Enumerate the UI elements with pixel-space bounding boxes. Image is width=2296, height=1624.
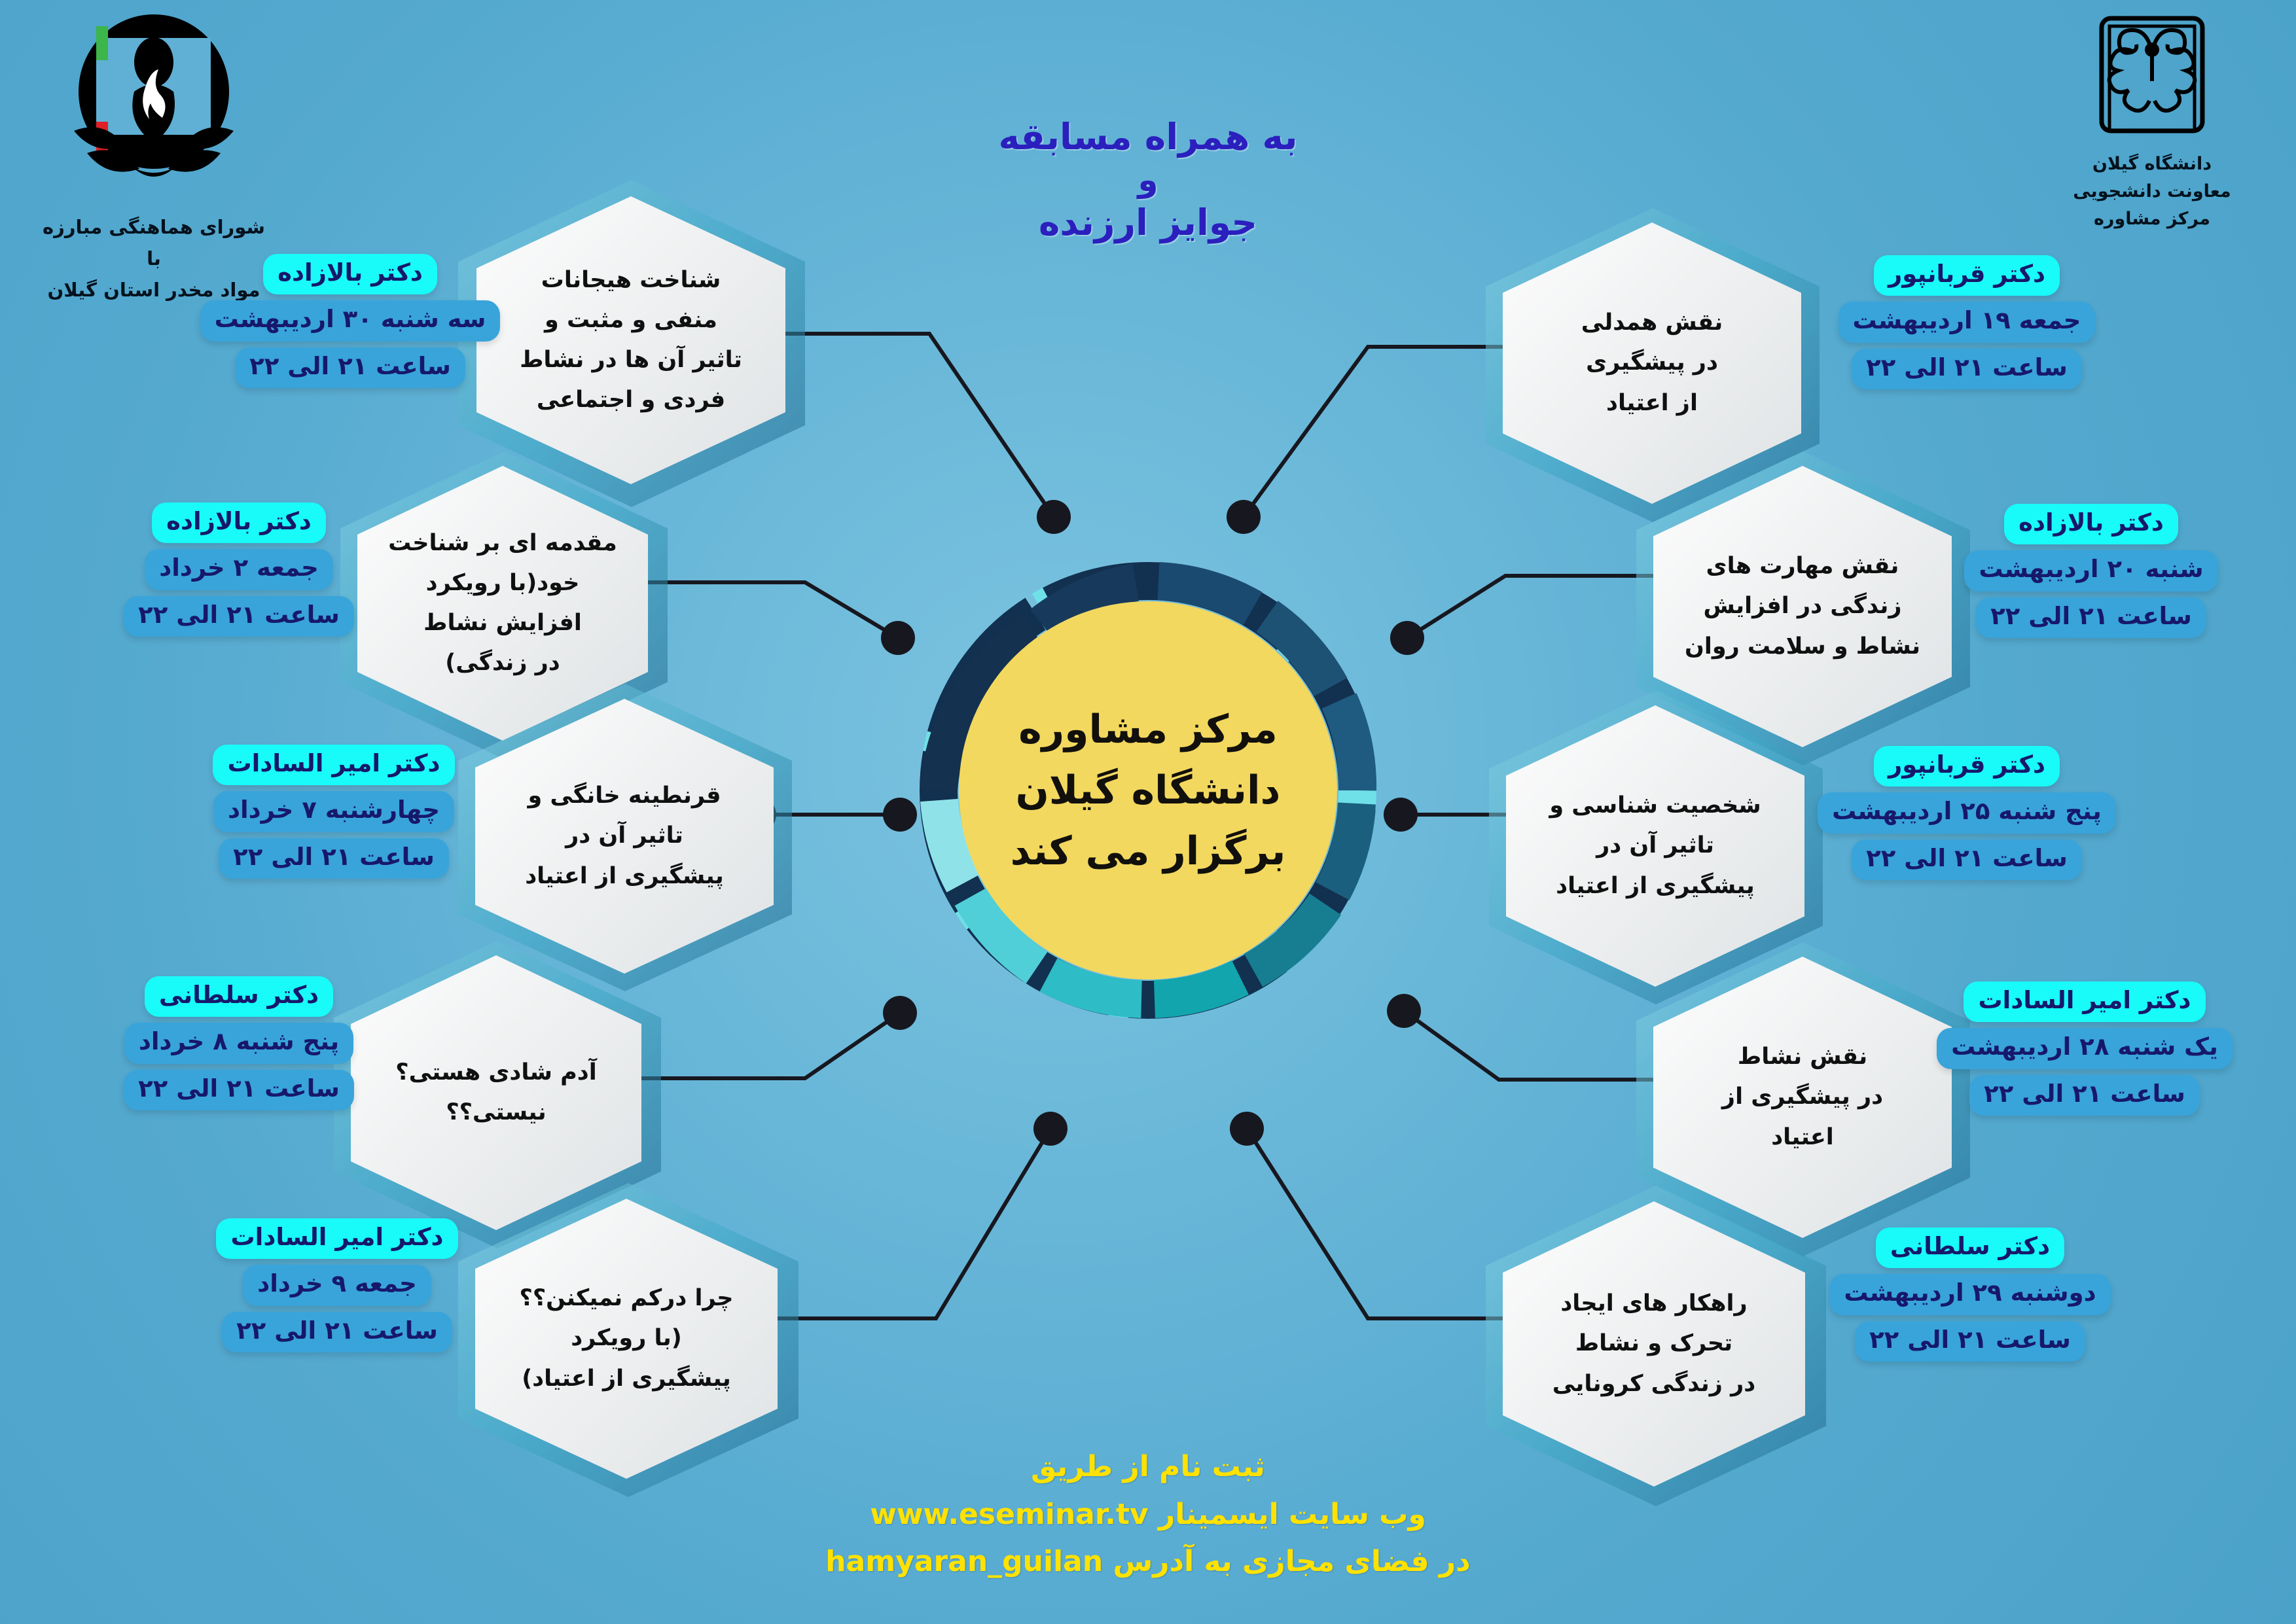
topic-text-right-4: نقش نشاطدر پیشگیری ازاعتیاد <box>1705 1037 1900 1157</box>
social-handle[interactable]: hamyaran_guilan <box>825 1538 1103 1586</box>
date-badge-left-2: جمعه ۲ خرداد <box>145 549 333 590</box>
topic-text-left-5: چرا درکم نمیکنن؟؟(با رویکردپیشگیری از اع… <box>503 1279 751 1399</box>
topic-text-left-3: قرنطینه خانگی وتاثیر آن درپیشگیری از اعت… <box>508 776 741 896</box>
session-labels-left-4: دکتر سلطانی پنج شنبه ۸ خرداد ساعت ۲۱ الی… <box>98 976 380 1110</box>
time-badge-left-2: ساعت ۲۱ الی ۲۲ <box>124 596 354 637</box>
time-badge-left-5: ساعت ۲۱ الی ۲۲ <box>222 1312 452 1352</box>
date-badge-right-4: یک شنبه ۲۸ اردیبهشت <box>1937 1028 2233 1068</box>
footer-line-2-label: وب سایت ایسمینار <box>1158 1498 1426 1531</box>
guilan-university-emblem-icon <box>2083 13 2221 144</box>
topic-text-right-2: نقش مهارت هایزندگی در افزایشنشاط و سلامت… <box>1668 546 1937 667</box>
speaker-badge-left-5: دکتر امیر السادات <box>216 1218 457 1259</box>
session-labels-right-2: دکتر بالازاده شنبه ۲۰ اردیبهشت ساعت ۲۱ ا… <box>1937 504 2245 638</box>
speaker-badge-right-5: دکتر سلطانی <box>1876 1227 2064 1268</box>
promo-line-1: به همراه مسابقه <box>0 115 2296 160</box>
speaker-badge-left-1: دکتر بالازاده <box>263 254 437 294</box>
speaker-badge-right-4: دکتر امیر السادات <box>1964 981 2205 1022</box>
session-labels-left-5: دکتر امیر السادات جمعه ۹ خرداد ساعت ۲۱ ا… <box>190 1218 484 1352</box>
topic-text-right-1: نقش همدلیدر پیشگیریاز اعتیاد <box>1564 303 1740 423</box>
right-logo-caption-line2: معاونت دانشجویی <box>2034 178 2270 205</box>
time-badge-right-2: ساعت ۲۱ الی ۲۲ <box>1976 597 2206 638</box>
date-badge-left-1: سه شنبه ۳۰ اردیبهشت <box>200 300 501 341</box>
registration-footer: ثبت نام از طریق وب سایت ایسمینار www.ese… <box>0 1443 2296 1586</box>
topic-text-right-3: شخصیت شناسی وتاثیر آن درپیشگیری از اعتیا… <box>1532 786 1778 906</box>
time-badge-left-3: ساعت ۲۱ الی ۲۲ <box>219 838 449 879</box>
session-labels-left-1: دکتر بالازاده سه شنبه ۳۰ اردیبهشت ساعت ۲… <box>196 254 504 388</box>
date-badge-left-4: پنج شنبه ۸ خرداد <box>124 1023 353 1063</box>
topic-text-right-5: راهکار های ایجادتحرک و نشاطدر زندگی کرون… <box>1535 1284 1772 1404</box>
time-badge-left-1: ساعت ۲۱ الی ۲۲ <box>235 347 465 388</box>
topic-text-left-4: آدم شادی هستی؟نیستی؟؟ <box>378 1053 613 1133</box>
time-badge-right-3: ساعت ۲۱ الی ۲۲ <box>1852 839 2082 880</box>
right-logo-caption-line1: دانشگاه گیلان <box>2034 150 2270 178</box>
speaker-badge-right-3: دکتر قربانپور <box>1874 746 2060 786</box>
speaker-badge-left-3: دکتر امیر السادات <box>213 745 454 785</box>
footer-line-2: وب سایت ایسمینار www.eseminar.tv <box>0 1491 2296 1539</box>
time-badge-right-5: ساعت ۲۱ الی ۲۲ <box>1855 1321 2085 1362</box>
speaker-badge-right-2: دکتر بالازاده <box>2004 504 2178 544</box>
session-labels-right-3: دکتر قربانپور پنج شنبه ۲۵ اردیبهشت ساعت … <box>1806 746 2127 880</box>
session-labels-right-5: دکتر سلطانی دوشنبه ۲۹ اردیبهشت ساعت ۲۱ ا… <box>1806 1227 2134 1362</box>
center-line-3: برگزار می کند <box>1011 821 1286 882</box>
footer-line-1: ثبت نام از طریق <box>0 1443 2296 1491</box>
time-badge-right-4: ساعت ۲۱ الی ۲۲ <box>1969 1075 2200 1116</box>
session-labels-left-2: دکتر بالازاده جمعه ۲ خرداد ساعت ۲۱ الی ۲… <box>101 503 376 637</box>
date-badge-right-2: شنبه ۲۰ اردیبهشت <box>1964 550 2217 591</box>
footer-line-3-label: در فضای مجازی به آدرس <box>1113 1545 1471 1578</box>
date-badge-right-5: دوشنبه ۲۹ اردیبهشت <box>1829 1274 2110 1315</box>
date-badge-right-3: پنج شنبه ۲۵ اردیبهشت <box>1818 792 2116 833</box>
center-disc: مرکز مشاوره دانشگاه گیلان برگزار می کند <box>960 603 1336 978</box>
time-badge-left-4: ساعت ۲۱ الی ۲۲ <box>124 1070 354 1110</box>
promo-line-2: و <box>0 160 2296 201</box>
speaker-badge-right-1: دکتر قربانپور <box>1874 255 2060 296</box>
speaker-badge-left-4: دکتر سلطانی <box>145 976 333 1017</box>
footer-line-3: در فضای مجازی به آدرس hamyaran_guilan <box>0 1538 2296 1586</box>
center-line-2: دانشگاه گیلان <box>1016 760 1281 821</box>
eseminar-website-link[interactable]: www.eseminar.tv <box>870 1491 1149 1539</box>
speaker-badge-left-2: دکتر بالازاده <box>152 503 326 543</box>
date-badge-right-1: جمعه ۱۹ اردیبهشت <box>1839 302 2096 342</box>
promo-header: به همراه مسابقه و جوایز ارزنده <box>0 115 2296 245</box>
right-logo-caption: دانشگاه گیلان معاونت دانشجویی مرکز مشاور… <box>2034 150 2270 233</box>
session-labels-right-4: دکتر امیر السادات یک شنبه ۲۸ اردیبهشت سا… <box>1924 981 2245 1116</box>
session-labels-left-3: دکتر امیر السادات چهارشنبه ۷ خرداد ساعت … <box>190 745 478 879</box>
torch-emblem-icon <box>56 13 252 203</box>
center-line-1: مرکز مشاوره <box>1018 699 1278 760</box>
topic-text-left-2: مقدمه ای بر شناختخود(با رویکردافزایش نشا… <box>371 523 634 684</box>
time-badge-right-1: ساعت ۲۱ الی ۲۲ <box>1852 349 2082 389</box>
session-labels-right-1: دکتر قربانپور جمعه ۱۹ اردیبهشت ساعت ۲۱ ا… <box>1813 255 2121 389</box>
center-wheel: مرکز مشاوره دانشگاه گیلان برگزار می کند <box>919 561 1377 1019</box>
date-badge-left-5: جمعه ۹ خرداد <box>243 1265 431 1305</box>
date-badge-left-3: چهارشنبه ۷ خرداد <box>213 791 454 832</box>
right-logo-caption-line3: مرکز مشاوره <box>2034 205 2270 233</box>
topic-text-left-1: شناخت هیجاناتمنفی و مثبت وتاثیر آن ها در… <box>503 260 759 421</box>
promo-line-3: جوایز ارزنده <box>0 200 2296 245</box>
university-of-guilan-logo-block: دانشگاه گیلان معاونت دانشجویی مرکز مشاور… <box>2034 13 2270 233</box>
